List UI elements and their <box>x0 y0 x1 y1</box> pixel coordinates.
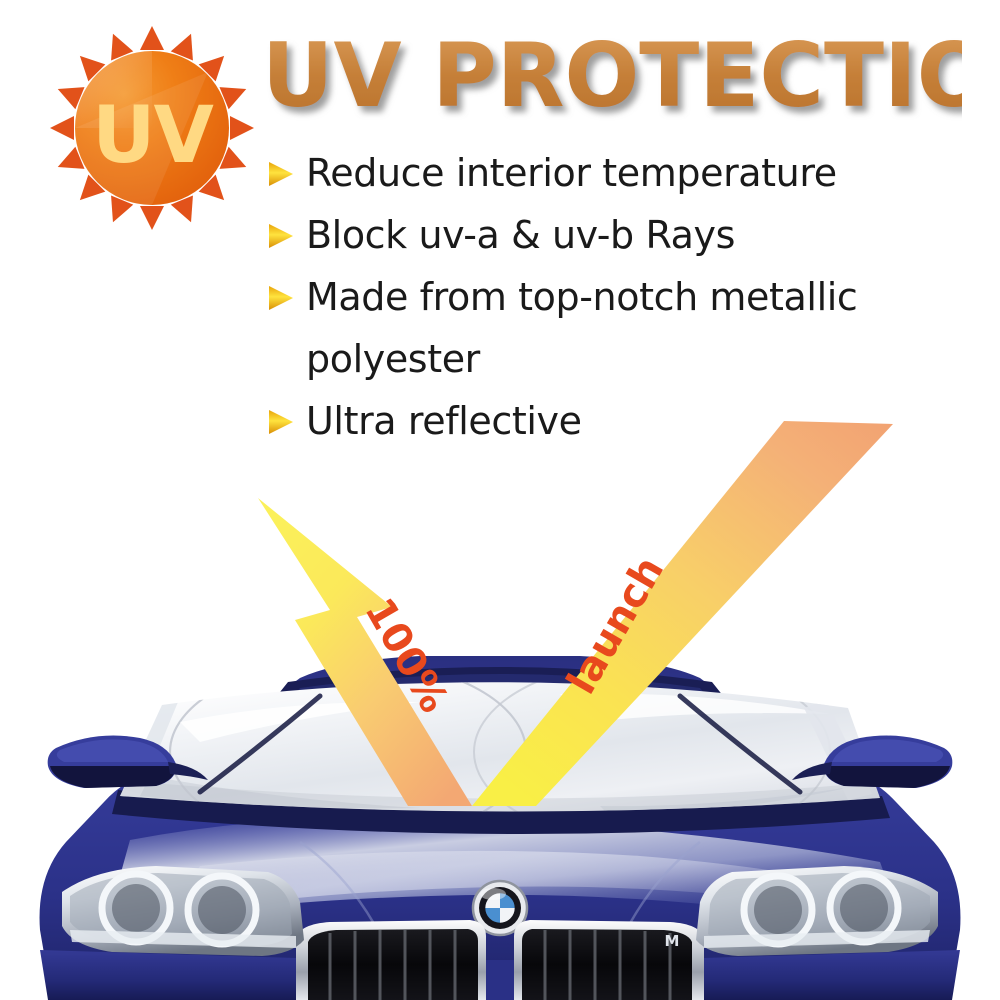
uv-sun-logo: UV <box>48 22 256 234</box>
list-item: Made from top-notch metallic <box>266 270 946 326</box>
triangle-right-icon <box>266 221 296 251</box>
angel-eye-headlight-right <box>696 866 938 956</box>
page-title-text: UV PROTECTION <box>262 28 962 127</box>
bumper-right <box>704 950 960 1000</box>
m-performance-badge: M <box>665 932 680 950</box>
list-item: Block uv-a & uv-b Rays <box>266 208 946 264</box>
list-item-label-line2: polyester <box>306 332 480 388</box>
list-item-continuation: polyester <box>266 332 946 388</box>
angel-eye-headlight-left <box>62 866 304 956</box>
bmw-front-view: M <box>0 630 1000 1000</box>
list-item-label: Block uv-a & uv-b Rays <box>306 208 735 264</box>
list-item-label: Reduce interior temperature <box>306 146 837 202</box>
bumper-left <box>40 950 296 1000</box>
product-marketing-image: UV UV PROTECTION <box>0 0 1000 1000</box>
triangle-right-icon <box>266 159 296 189</box>
page-title: UV PROTECTION <box>262 28 962 128</box>
list-item: Reduce interior temperature <box>266 146 946 202</box>
uv-logo-text: UV <box>92 91 213 181</box>
triangle-right-icon <box>266 407 296 437</box>
list-item-label: Made from top-notch metallic <box>306 270 857 326</box>
bumper-center <box>486 960 514 1000</box>
triangle-right-icon <box>266 283 296 313</box>
feature-list: Reduce interior temperature Block uv-a &… <box>266 146 946 456</box>
grille-left <box>308 929 478 1000</box>
list-item: Ultra reflective <box>266 394 946 450</box>
list-item-label: Ultra reflective <box>306 394 582 450</box>
